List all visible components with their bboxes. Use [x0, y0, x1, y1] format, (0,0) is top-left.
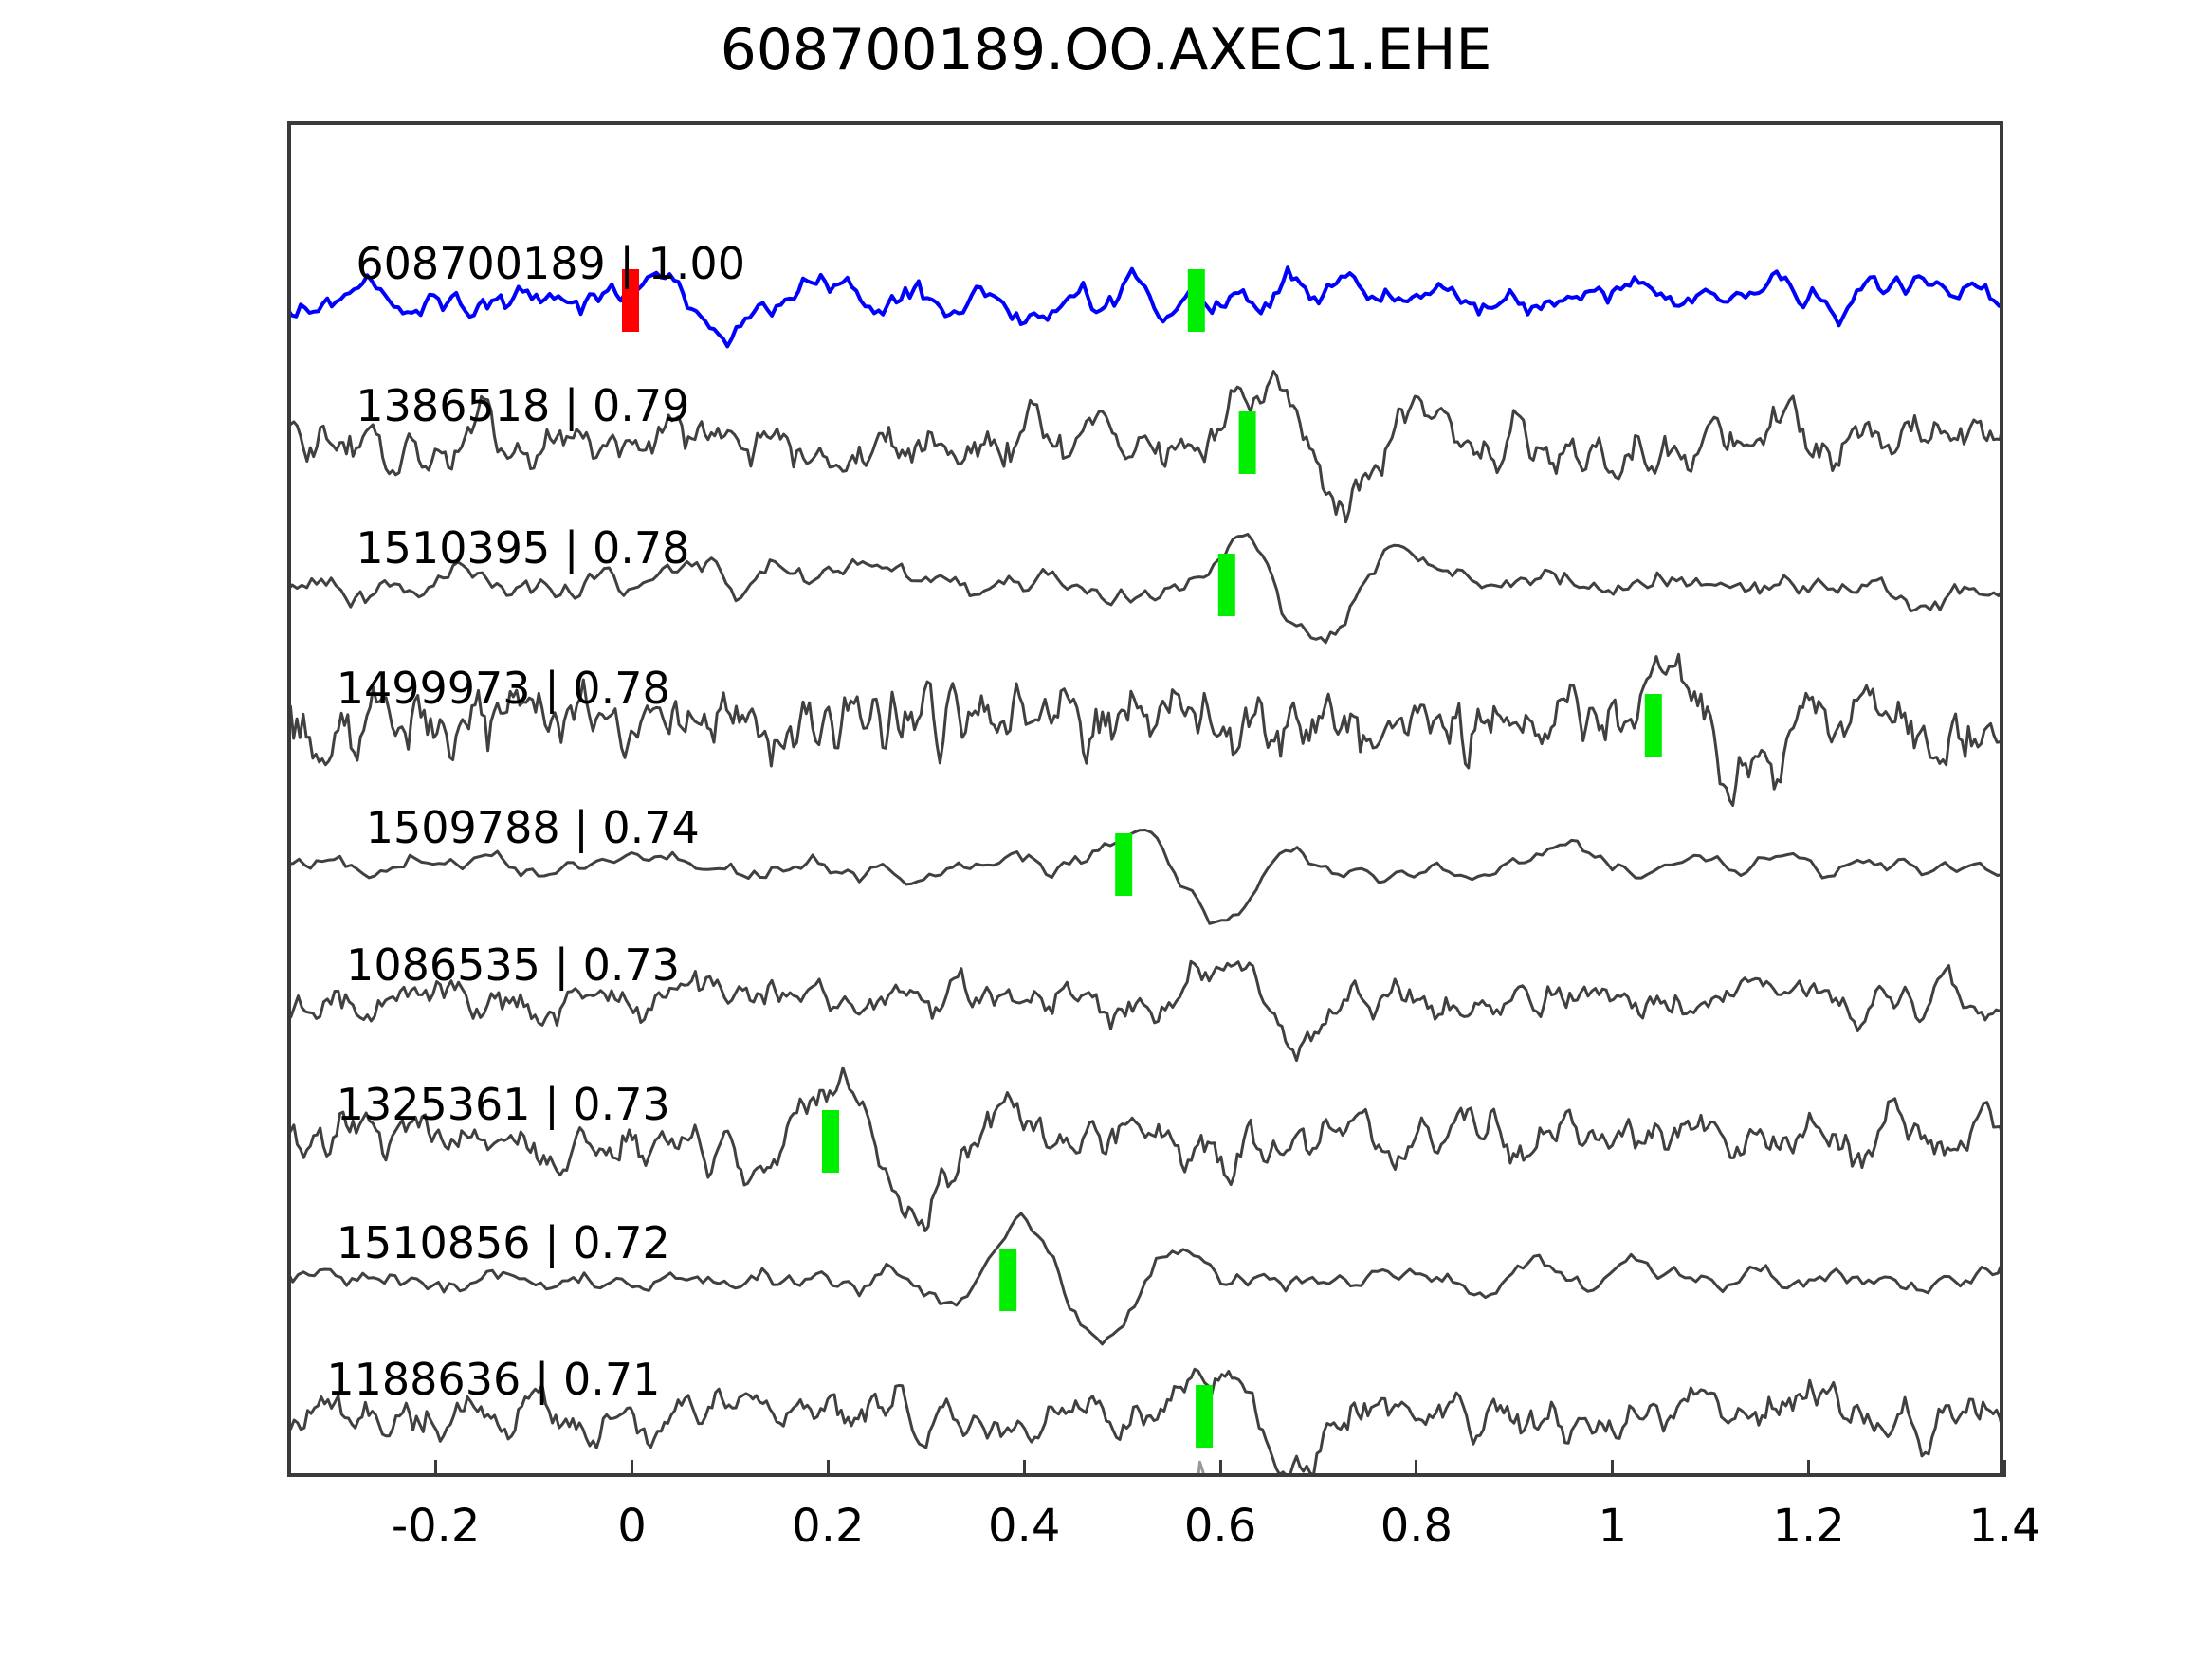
x-axis-tick-label: 0.4 — [988, 1500, 1060, 1553]
x-axis-tick-label: 0 — [617, 1500, 647, 1553]
x-axis-tick-label: 1.2 — [1772, 1500, 1844, 1553]
match-pick-marker — [1218, 554, 1235, 616]
trace-label: 1510856 | 0.72 — [337, 1221, 670, 1265]
x-axis-tick-label: 0.6 — [1184, 1500, 1256, 1553]
overlay-trace — [291, 1462, 2000, 1473]
x-axis-tick-line — [1807, 1460, 1810, 1477]
chart-root: 608700189.OO.AXEC1.EHE 608700189 | 1.001… — [0, 0, 2212, 1659]
match-pick-marker — [1196, 1385, 1213, 1448]
x-axis-tick-line — [827, 1460, 830, 1477]
x-axis-tick-line — [1219, 1460, 1222, 1477]
x-axis-tick-label: 1.4 — [1968, 1500, 2040, 1553]
x-axis-tick-line — [1611, 1460, 1614, 1477]
trace-label: 1086535 | 0.73 — [346, 943, 680, 987]
x-axis-tick-label: 1 — [1599, 1500, 1628, 1553]
match-pick-marker — [1115, 833, 1132, 896]
trace-label: 1325361 | 0.73 — [337, 1083, 670, 1126]
x-axis-tick-line — [1023, 1460, 1026, 1477]
plot-area: 608700189 | 1.001386518 | 0.791510395 | … — [287, 121, 2003, 1477]
match-pick-marker — [1239, 411, 1256, 474]
match-pick-marker — [822, 1110, 839, 1173]
match-pick-marker — [999, 1249, 1016, 1311]
x-axis-tick-line — [2003, 1460, 2006, 1477]
x-axis-tick-line — [1415, 1460, 1417, 1477]
trace-label: 1386518 | 0.79 — [356, 384, 689, 428]
page-title: 608700189.OO.AXEC1.EHE — [0, 17, 2212, 83]
waveform-canvas — [291, 125, 2000, 1473]
trace-label: 1510395 | 0.78 — [356, 526, 689, 570]
trace-label: 1188636 | 0.71 — [326, 1358, 660, 1401]
trace-label: 1499973 | 0.78 — [337, 666, 670, 710]
x-axis-tick-label: 0.8 — [1380, 1500, 1453, 1553]
x-axis-tick-line — [434, 1460, 437, 1477]
trace-label: 1509788 | 0.74 — [366, 806, 700, 849]
x-axis-tick-label: -0.2 — [392, 1500, 481, 1553]
match-pick-marker — [1645, 694, 1662, 757]
x-axis-tick-label: 0.2 — [792, 1500, 864, 1553]
match-pick-marker — [1188, 269, 1205, 332]
x-axis: -0.200.20.40.60.811.21.4 — [287, 1477, 2003, 1600]
trace-label: 608700189 | 1.00 — [356, 242, 745, 285]
plot-inner: 608700189 | 1.001386518 | 0.791510395 | … — [291, 125, 2000, 1473]
x-axis-tick-line — [631, 1460, 633, 1477]
